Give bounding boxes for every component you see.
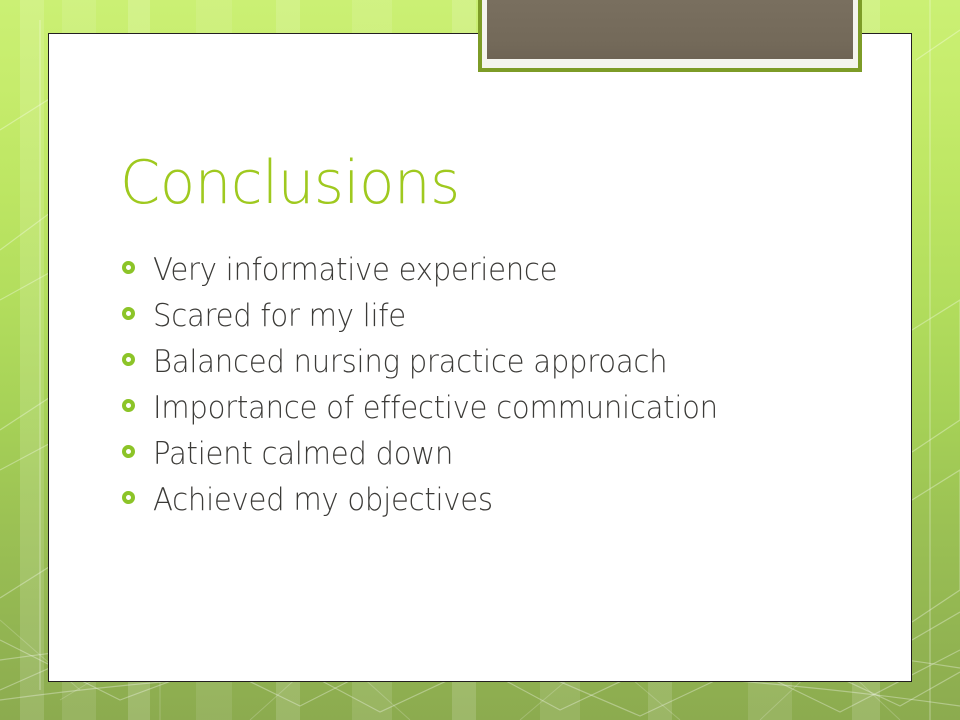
list-item-label: Achieved my objectives xyxy=(153,479,493,521)
ring-bullet-icon xyxy=(122,307,135,320)
ring-bullet-icon xyxy=(122,445,135,458)
list-item-label: Patient calmed down xyxy=(153,433,453,475)
list-item: Very informative experience xyxy=(122,249,862,295)
ring-bullet-icon xyxy=(122,353,135,366)
ring-bullet-icon xyxy=(122,261,135,274)
header-decoration-block xyxy=(478,0,862,72)
list-item: Balanced nursing practice approach xyxy=(122,341,862,387)
page-title: Conclusions xyxy=(120,152,460,215)
list-item-label: Scared for my life xyxy=(153,295,406,337)
list-item: Patient calmed down xyxy=(122,433,862,479)
list-item-label: Very informative experience xyxy=(153,249,557,291)
header-decoration-inner xyxy=(482,0,858,68)
ring-bullet-icon xyxy=(122,491,135,504)
slide-canvas: Conclusions Very informative experience … xyxy=(0,0,960,720)
ring-bullet-icon xyxy=(122,399,135,412)
list-item: Importance of effective communication xyxy=(122,387,862,433)
list-item-label: Importance of effective communication xyxy=(153,387,718,429)
header-decoration-fill xyxy=(487,0,853,59)
list-item: Scared for my life xyxy=(122,295,862,341)
list-item: Achieved my objectives xyxy=(122,479,862,525)
bullet-list: Very informative experience Scared for m… xyxy=(122,249,862,525)
list-item-label: Balanced nursing practice approach xyxy=(153,341,667,383)
